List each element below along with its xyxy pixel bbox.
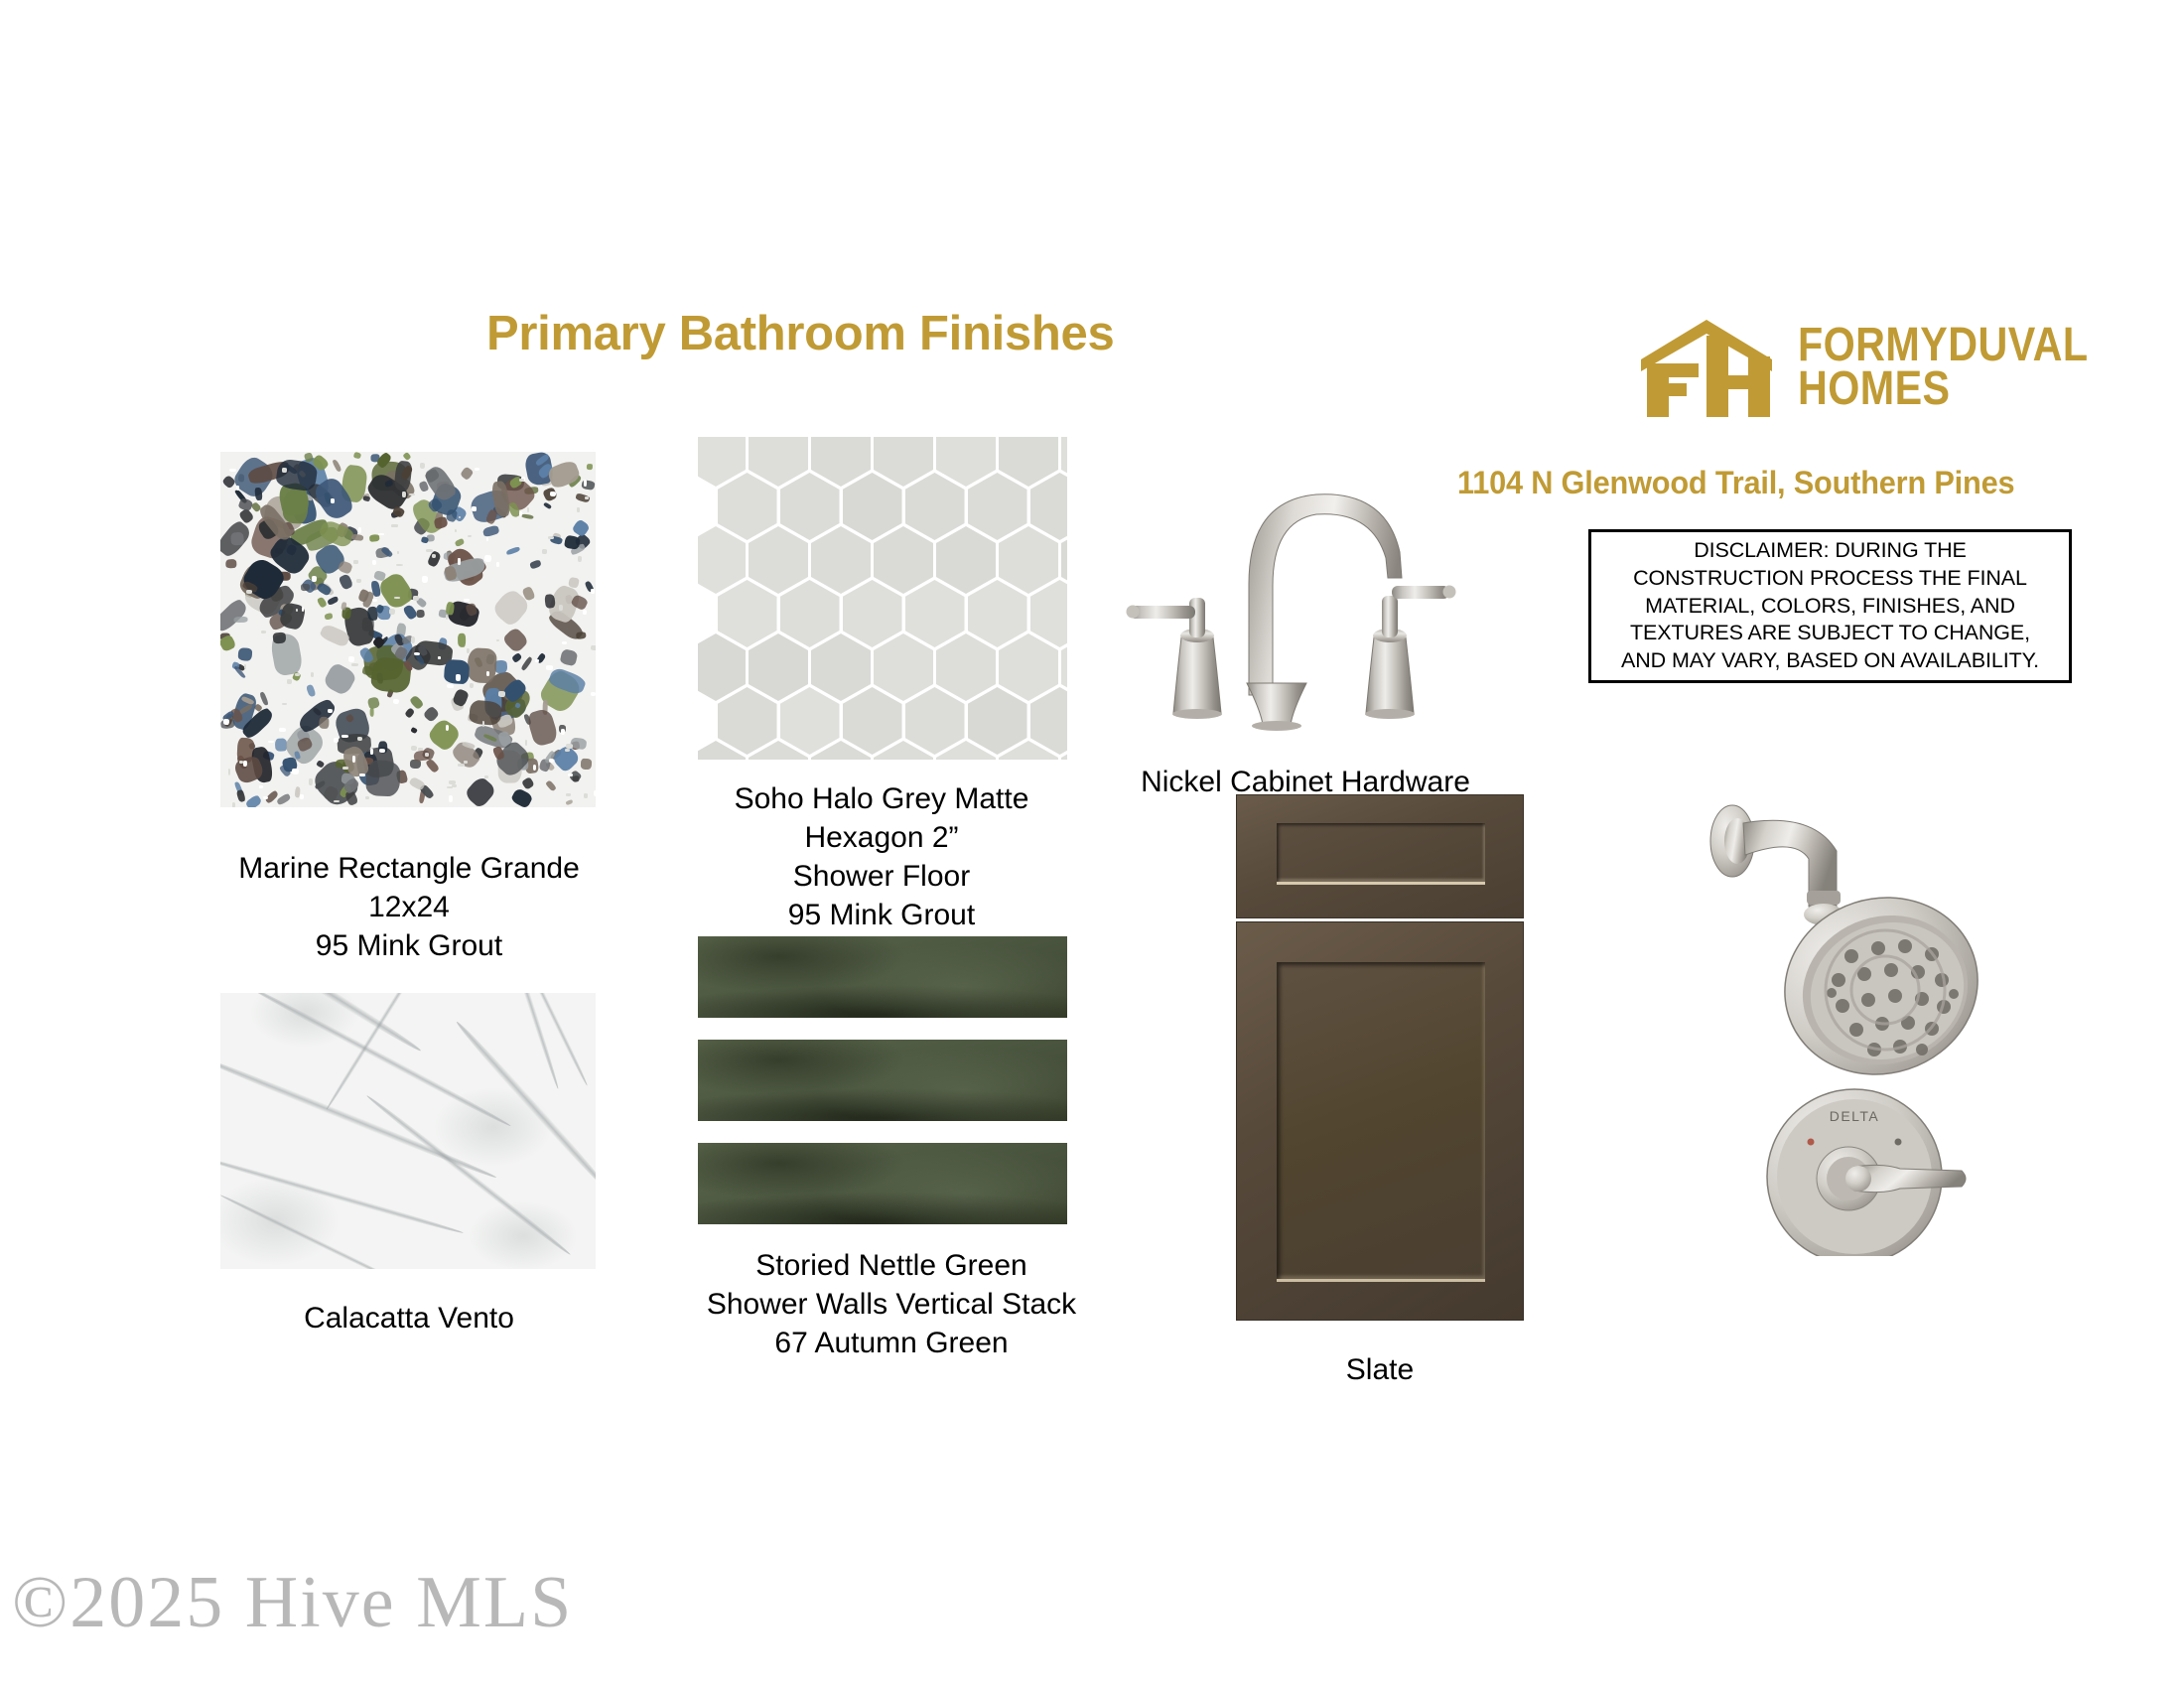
terrazzo-speckle: [447, 684, 454, 688]
terrazzo-speckle: [311, 672, 315, 676]
terrazzo-tile-swatch: [220, 452, 596, 807]
terrazzo-speckle: [548, 536, 555, 539]
terrazzo-chip: [365, 760, 400, 796]
hexagon-tile: [905, 473, 965, 540]
terrazzo-chip: [573, 775, 580, 782]
terrazzo-chip: [317, 596, 328, 608]
cabinet-drawer-panel: [1277, 823, 1485, 885]
hexagon-tile: [843, 473, 902, 540]
terrazzo-chip: [416, 610, 425, 619]
terrazzo-speckle: [561, 729, 565, 735]
terrazzo-chip: [425, 759, 440, 774]
caption-line: 95 Mink Grout: [683, 896, 1080, 934]
terrazzo-speckle: [525, 740, 527, 745]
terrazzo-speckle: [357, 737, 362, 741]
terrazzo-chip: [587, 464, 593, 470]
property-address: 1104 N Glenwood Trail, Southern Pines: [1457, 465, 2014, 501]
green-subway-tile-swatch: [698, 936, 1067, 1224]
caption-line: Soho Halo Grey Matte: [683, 779, 1080, 818]
terrazzo-speckle: [279, 728, 285, 732]
caption-line: Shower Walls Vertical Stack: [683, 1285, 1100, 1324]
terrazzo-speckle: [353, 560, 358, 563]
terrazzo-chip: [529, 559, 542, 570]
terrazzo-speckle: [331, 498, 335, 502]
terrazzo-speckle: [268, 741, 274, 744]
terrazzo-speckle: [396, 564, 402, 566]
green-tile-caption: Storied Nettle Green Shower Walls Vertic…: [683, 1246, 1100, 1362]
terrazzo-chip: [422, 705, 440, 723]
terrazzo-speckle: [295, 673, 300, 676]
terrazzo-speckle: [482, 721, 484, 727]
terrazzo-chip: [353, 452, 361, 460]
terrazzo-chip: [296, 696, 338, 735]
terrazzo-chip: [576, 632, 587, 639]
terrazzo-chip: [236, 789, 246, 802]
showerhead-and-valve-image: DELTA: [1688, 779, 2045, 1256]
green-tile: [698, 1040, 1067, 1121]
terrazzo-speckle: [432, 554, 436, 558]
hexagon-tile: [718, 580, 777, 647]
terrazzo-speckle: [232, 802, 235, 807]
disclaimer-line: MATERIAL, COLORS, FINISHES, AND: [1645, 593, 2015, 621]
terrazzo-chip: [369, 707, 374, 716]
terrazzo-chip: [361, 665, 373, 676]
terrazzo-speckle: [394, 597, 400, 599]
hexagon-tile: [843, 687, 902, 755]
terrazzo-chip: [464, 774, 497, 807]
terrazzo-speckle: [393, 699, 399, 705]
terrazzo-chip: [337, 561, 352, 575]
hexagon-tile: [968, 473, 1027, 540]
terrazzo-speckle: [449, 795, 453, 802]
terrazzo-chip: [545, 779, 557, 791]
terrazzo-speckle: [550, 492, 557, 495]
hexagon-tile: [811, 633, 871, 701]
terrazzo-speckle: [486, 537, 488, 541]
hexagon-tile: [1030, 473, 1068, 540]
terrazzo-chip: [509, 786, 533, 807]
company-logo: FORMYDUVAL HOMES: [1641, 320, 2135, 417]
terrazzo-chip: [572, 519, 591, 538]
terrazzo-speckle: [352, 756, 355, 763]
terrazzo-chip: [469, 699, 502, 725]
terrazzo-speckle: [455, 529, 457, 532]
terrazzo-speckle: [420, 463, 426, 469]
terrazzo-speckle: [351, 663, 358, 666]
quartz-blush: [220, 1177, 340, 1266]
terrazzo-chip: [455, 538, 466, 547]
terrazzo-chip: [305, 684, 316, 698]
terrazzo-chip: [521, 776, 535, 790]
terrazzo-speckle: [282, 703, 287, 705]
terrazzo-chip: [543, 501, 552, 509]
terrazzo-speckle: [223, 719, 229, 726]
terrazzo-chip: [366, 695, 380, 709]
terrazzo-speckle: [409, 493, 415, 495]
caption-line: Slate: [1186, 1350, 1573, 1389]
caption-line: 95 Mink Grout: [210, 926, 608, 965]
quartz-blush: [434, 1087, 553, 1167]
terrazzo-speckle: [549, 759, 555, 763]
terrazzo-speckle: [244, 664, 246, 669]
terrazzo-speckle: [228, 769, 231, 775]
terrazzo-speckle: [378, 533, 384, 535]
terrazzo-speckle: [263, 796, 268, 799]
quartz-countertop-swatch: [220, 993, 596, 1269]
terrazzo-chip: [410, 727, 418, 734]
terrazzo-tile-caption: Marine Rectangle Grande 12x24 95 Mink Gr…: [210, 849, 608, 965]
brand-wordmark: FORMYDUVAL HOMES: [1798, 324, 2135, 411]
terrazzo-speckle: [496, 562, 499, 567]
brand-line-1: FORMYDUVAL: [1798, 324, 2088, 367]
hexagon-tile: [874, 633, 933, 701]
terrazzo-chip: [445, 602, 455, 616]
terrazzo-speckle: [425, 753, 429, 756]
terrazzo-speckle: [447, 786, 453, 788]
terrazzo-speckle: [348, 656, 354, 662]
terrazzo-chip: [460, 466, 474, 480]
terrazzo-speckle: [527, 507, 529, 511]
terrazzo-speckle: [418, 748, 422, 751]
caption-line: 67 Autumn Green: [683, 1324, 1100, 1362]
hexagon-tile: [1030, 580, 1068, 647]
terrazzo-speckle: [486, 671, 489, 676]
terrazzo-speckle: [458, 558, 460, 565]
hexagon-tile: [905, 687, 965, 755]
hexagon-tile: [698, 526, 746, 594]
hexagon-tile: [936, 526, 996, 594]
terrazzo-speckle: [236, 486, 239, 492]
terrazzo-speckle: [356, 579, 361, 583]
terrazzo-speckle: [475, 468, 479, 471]
terrazzo-speckle: [359, 774, 366, 776]
terrazzo-speckle: [370, 749, 373, 754]
terrazzo-speckle: [583, 610, 587, 615]
hexagon-tile: [874, 526, 933, 594]
terrazzo-speckle: [562, 641, 568, 645]
terrazzo-speckle: [334, 738, 339, 743]
terrazzo-speckle: [519, 479, 525, 482]
widespread-faucet-image: [1122, 467, 1479, 745]
caption-line: 12x24: [210, 888, 608, 926]
hexagon-tile: [749, 633, 808, 701]
terrazzo-speckle: [591, 645, 596, 651]
terrazzo-speckle: [446, 615, 449, 620]
terrazzo-chip: [566, 799, 574, 806]
terrazzo-speckle: [458, 764, 465, 767]
terrazzo-speckle: [496, 639, 499, 641]
caption-line: Storied Nettle Green: [683, 1246, 1100, 1285]
caption-line: Hexagon 2”: [683, 818, 1080, 857]
terrazzo-speckle: [411, 636, 416, 643]
page-title: Primary Bathroom Finishes: [486, 306, 1114, 361]
terrazzo-speckle: [397, 551, 400, 553]
terrazzo-chip: [351, 533, 364, 540]
terrazzo-speckle: [282, 468, 287, 473]
terrazzo-chip: [506, 545, 521, 555]
terrazzo-speckle: [456, 674, 461, 681]
terrazzo-chip: [238, 647, 253, 661]
terrazzo-chip: [408, 776, 425, 791]
terrazzo-speckle: [259, 785, 263, 788]
terrazzo-chip: [362, 495, 370, 502]
terrazzo-speckle: [591, 692, 596, 696]
cabinet-drawer-front: [1236, 794, 1524, 918]
terrazzo-speckle: [379, 749, 386, 753]
terrazzo-chip: [238, 498, 253, 512]
terrazzo-chip: [259, 691, 269, 706]
terrazzo-chip: [521, 656, 533, 671]
terrazzo-speckle: [568, 774, 573, 776]
terrazzo-chip: [339, 573, 354, 591]
terrazzo-chip: [525, 707, 559, 748]
terrazzo-chip: [581, 758, 592, 769]
terrazzo-chip: [458, 633, 466, 648]
caption-line: Calacatta Vento: [210, 1299, 608, 1337]
disclaimer-line: AND MAY VARY, BASED ON AVAILABILITY.: [1621, 647, 2039, 675]
hexagon-tile: [698, 633, 746, 701]
hexagon-tile: [905, 580, 965, 647]
quartz-vein: [506, 993, 589, 1086]
terrazzo-chip: [245, 793, 263, 807]
finishes-board: Primary Bathroom Finishes FORMYDUVAL HOM…: [0, 0, 2184, 1688]
terrazzo-speckle: [309, 778, 313, 785]
terrazzo-speckle: [584, 793, 588, 797]
terrazzo-chip: [404, 707, 415, 719]
terrazzo-speckle: [594, 790, 596, 795]
terrazzo-chip: [547, 460, 583, 491]
terrazzo-speckle: [484, 775, 489, 778]
quartz-blush: [250, 993, 359, 1048]
terrazzo-chip: [482, 524, 500, 537]
terrazzo-chip: [332, 459, 342, 473]
terrazzo-chip: [224, 558, 236, 568]
terrazzo-speckle: [411, 746, 418, 751]
disclaimer-box: DISCLAIMER: DURING THE CONSTRUCTION PROC…: [1588, 529, 2072, 683]
hexagon-tile: [718, 687, 777, 755]
terrazzo-speckle: [426, 549, 432, 552]
terrazzo-speckle: [341, 735, 348, 738]
hexagon-tile: [1030, 687, 1068, 755]
cabinet-door-image: [1236, 794, 1524, 1321]
terrazzo-speckle: [498, 691, 505, 697]
terrazzo-chip: [402, 452, 411, 461]
terrazzo-speckle: [402, 492, 406, 497]
terrazzo-chip: [564, 535, 581, 550]
terrazzo-speckle: [413, 596, 419, 601]
hexagon-tile: [968, 580, 1027, 647]
terrazzo-chip: [234, 617, 248, 624]
disclaimer-line: TEXTURES ARE SUBJECT TO CHANGE,: [1630, 620, 2030, 647]
terrazzo-chip: [327, 596, 339, 607]
hexagon-tile: [780, 687, 840, 755]
terrazzo-speckle: [292, 769, 299, 774]
terrazzo-speckle: [389, 609, 396, 615]
terrazzo-chip: [322, 661, 356, 696]
terrazzo-speckle: [577, 507, 580, 512]
terrazzo-speckle: [261, 631, 266, 633]
terrazzo-chip: [318, 717, 329, 729]
hexagon-tile: [811, 526, 871, 594]
terrazzo-speckle: [229, 469, 236, 472]
terrazzo-speckle: [470, 683, 474, 689]
terrazzo-speckle: [243, 761, 247, 767]
terrazzo-speckle: [546, 665, 553, 669]
hexagon-tile: [968, 687, 1027, 755]
terrazzo-chip: [369, 535, 380, 543]
hexagon-tile: [999, 526, 1058, 594]
terrazzo-chip: [230, 532, 244, 546]
terrazzo-speckle: [559, 605, 563, 611]
cabinet-caption: Slate: [1186, 1350, 1573, 1389]
terrazzo-speckle: [372, 599, 377, 603]
terrazzo-chip: [521, 513, 534, 519]
hexagon-mosaic-caption: Soho Halo Grey Matte Hexagon 2” Shower F…: [683, 779, 1080, 934]
caption-line: Shower Floor: [683, 857, 1080, 896]
hexagon-tile: [780, 580, 840, 647]
terrazzo-chip: [560, 648, 579, 666]
terrazzo-speckle: [585, 496, 589, 499]
terrazzo-chip: [468, 647, 497, 683]
quartz-blush: [469, 1201, 578, 1269]
terrazzo-chip: [220, 633, 237, 652]
terrazzo-speckle: [358, 527, 361, 533]
terrazzo-speckle: [484, 555, 491, 562]
cabinet-door-panel: [1277, 962, 1485, 1282]
terrazzo-chip: [427, 550, 442, 568]
cabinet-door-front: [1236, 921, 1524, 1321]
brand-line-2: HOMES: [1798, 367, 2088, 411]
caption-line: Marine Rectangle Grande: [210, 849, 608, 888]
hexagon-tile: [718, 473, 777, 540]
green-tile: [698, 936, 1067, 1018]
hexagon-mosaic-swatch: [698, 437, 1067, 760]
terrazzo-chip: [501, 626, 530, 654]
terrazzo-speckle: [566, 744, 573, 749]
terrazzo-speckle: [464, 761, 468, 764]
quartz-caption: Calacatta Vento: [210, 1299, 608, 1337]
mls-watermark: ©2025 Hive MLS: [12, 1561, 573, 1645]
hexagon-tile: [843, 580, 902, 647]
hexagon-tile: [749, 526, 808, 594]
terrazzo-chip: [402, 603, 419, 621]
terrazzo-speckle: [391, 524, 397, 526]
terrazzo-speckle: [591, 589, 594, 594]
terrazzo-chip: [568, 577, 579, 589]
terrazzo-chip: [301, 584, 311, 591]
terrazzo-speckle: [300, 794, 304, 799]
disclaimer-line: CONSTRUCTION PROCESS THE FINAL: [1633, 565, 2027, 593]
green-tile: [698, 1143, 1067, 1224]
terrazzo-chip: [324, 613, 333, 621]
terrazzo-speckle: [542, 549, 547, 554]
terrazzo-speckle: [468, 535, 472, 537]
disclaimer-line: DISCLAIMER: DURING THE: [1694, 537, 1967, 565]
hexagon-tile: [999, 633, 1058, 701]
terrazzo-speckle: [422, 576, 428, 583]
terrazzo-speckle: [287, 679, 292, 684]
terrazzo-speckle: [438, 656, 440, 659]
svg-text:DELTA: DELTA: [1830, 1108, 1880, 1124]
terrazzo-speckle: [578, 556, 582, 562]
terrazzo-speckle: [464, 599, 470, 602]
terrazzo-chip: [535, 652, 546, 664]
hexagon-tile: [936, 633, 996, 701]
terrazzo-speckle: [472, 506, 477, 510]
terrazzo-speckle: [312, 576, 317, 582]
terrazzo-speckle: [372, 560, 376, 565]
terrazzo-chip: [511, 651, 522, 662]
fh-house-monogram-icon: [1641, 320, 1772, 417]
terrazzo-speckle: [566, 793, 571, 795]
terrazzo-speckle: [365, 796, 370, 799]
hexagon-tile: [780, 473, 840, 540]
